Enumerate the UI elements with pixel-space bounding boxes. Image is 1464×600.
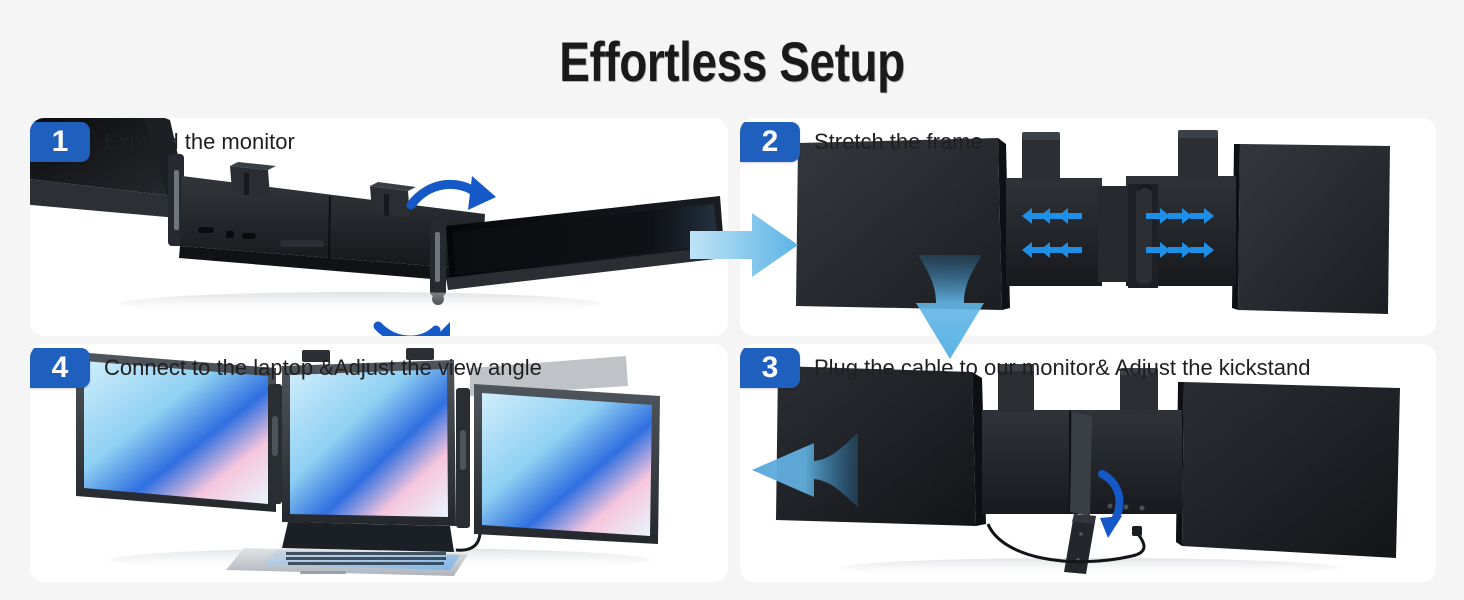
step-2-header: 2 Stretch the frame [740,118,983,166]
step-caption-3: Plug the cable to our monitor& Adjust th… [814,355,1311,381]
step-card-3: 3 Plug the cable to our monitor& Adjust … [740,344,1436,582]
step-number-badge-2: 2 [740,122,800,162]
step-number-badge-1: 1 [30,122,90,162]
step-caption-4: Connect to the laptop &Adjust the view a… [104,355,542,381]
step-4-header: 4 Connect to the laptop &Adjust the view… [30,344,542,392]
step-caption-1: Expand the monitor [104,129,295,155]
step-1-header: 1 Expand the monitor [30,118,295,166]
step-number-badge-3: 3 [740,348,800,388]
step-number-badge-4: 4 [30,348,90,388]
page-title: Effortless Setup [132,24,1332,100]
step-card-4: 4 Connect to the laptop &Adjust the view… [30,344,728,582]
step-3-header: 3 Plug the cable to our monitor& Adjust … [740,344,1311,392]
step-caption-2: Stretch the frame [814,129,983,155]
step-card-1: 1 Expand the monitor [30,118,728,336]
step-card-2: 2 Stretch the frame [740,118,1436,336]
infographic-root: Effortless Setup [0,0,1464,600]
